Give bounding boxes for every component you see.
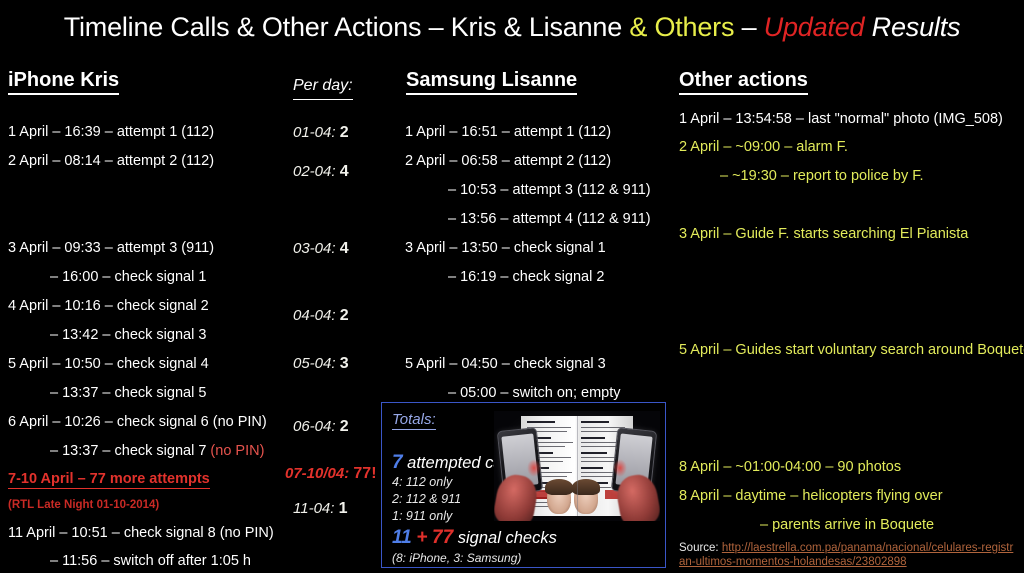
- totals-signal-label: signal checks: [458, 529, 557, 547]
- per-day-row: 06-04: 2: [293, 418, 349, 436]
- totals-signal-plus: +: [416, 527, 427, 548]
- samsung-entry: – 16:19 – check signal 2: [448, 268, 604, 286]
- samsung-entry: 3 April – 13:50 – check signal 1: [405, 239, 606, 257]
- per-day-row: 01-04: 2: [293, 124, 349, 142]
- source-url-link[interactable]: http://laestrella.com.pa/panama/nacional…: [679, 542, 1013, 568]
- per-day-row-highlight: 07-10/04: 77!: [285, 465, 377, 483]
- iphone-entry-more-attempts: 7-10 April – 77 more attempts: [8, 470, 210, 489]
- page-title: Timeline Calls & Other Actions – Kris & …: [0, 10, 1024, 44]
- other-action-entry: 3 April – Guide F. starts searching El P…: [679, 225, 968, 243]
- other-action-entry: – parents arrive in Boquete: [760, 516, 934, 534]
- samsung-entry: – 13:56 – attempt 4 (112 & 911): [448, 210, 651, 228]
- per-day-value: 4: [340, 163, 349, 180]
- per-day-value: 2: [340, 307, 349, 324]
- iphone-entry: – 16:00 – check signal 1: [50, 268, 206, 286]
- column-header-per-day: Per day:: [293, 74, 353, 100]
- per-day-label: 05-04:: [293, 355, 336, 372]
- column-header-other-actions: Other actions: [679, 68, 808, 95]
- iphone-entry: 11 April – 10:51 – check signal 8 (no PI…: [8, 524, 274, 542]
- iphone-entry-source-note: (RTL Late Night 01-10-2014): [8, 496, 159, 514]
- per-day-label: 07-10/04:: [285, 465, 349, 482]
- iphone-entry: 1 April – 16:39 – attempt 1 (112): [8, 123, 214, 141]
- per-day-row: 03-04: 4: [293, 240, 349, 258]
- per-day-label: 01-04:: [293, 124, 336, 141]
- totals-signal-number-1: 11: [392, 527, 412, 548]
- two-girls-photo: [547, 480, 603, 514]
- per-day-value: 3: [340, 355, 349, 372]
- other-action-entry: – ~19:30 – report to police by F.: [720, 167, 924, 185]
- samsung-entry: 2 April – 06:58 – attempt 2 (112): [405, 152, 611, 170]
- iphone-entry: 2 April – 08:14 – attempt 2 (112): [8, 152, 214, 170]
- source-label: Source:: [679, 542, 719, 554]
- per-day-label: 06-04:: [293, 418, 336, 435]
- totals-panel: Totals: 7 attempted calls 4: 112 only 2:…: [381, 402, 666, 568]
- per-day-value: 2: [340, 124, 349, 141]
- source-citation: Source: http://laestrella.com.pa/panama/…: [679, 541, 1015, 569]
- iphone-entry: 5 April – 10:50 – check signal 4: [8, 355, 209, 373]
- per-day-label: 03-04:: [293, 240, 336, 257]
- two-phones-call-log-photo: [494, 411, 660, 521]
- samsung-entry: 1 April – 16:51 – attempt 1 (112): [405, 123, 611, 141]
- iphone-entry-no-pin: – 13:37 – check signal 7 (no PIN): [50, 442, 264, 460]
- other-action-entry: 8 April – ~01:00-04:00 – 90 photos: [679, 458, 901, 476]
- per-day-label: 11-04:: [293, 500, 334, 517]
- iphone-entry: – 13:42 – check signal 3: [50, 326, 206, 344]
- per-day-value: 2: [340, 418, 349, 435]
- iphone-entry: 6 April – 10:26 – check signal 6 (no PIN…: [8, 413, 267, 431]
- other-action-entry: 8 April – daytime – helicopters flying o…: [679, 487, 943, 505]
- samsung-entry: – 05:00 – switch on; empty: [448, 384, 621, 402]
- totals-breakdown-item: 2: 112 & 911: [392, 492, 461, 506]
- totals-attempted-number: 7: [392, 452, 403, 473]
- samsung-entry: – 10:53 – attempt 3 (112 & 911): [448, 181, 651, 199]
- column-header-iphone-kris: iPhone Kris: [8, 68, 119, 95]
- totals-breakdown-item: 1: 911 only: [392, 509, 452, 523]
- totals-footnote: (8: iPhone, 3: Samsung): [392, 551, 521, 565]
- iphone-entry: – 11:56 – switch off after 1:05 h: [50, 552, 251, 570]
- iphone-entry-text: – 13:37 – check signal 7: [50, 443, 210, 459]
- other-action-entry: 2 April – ~09:00 – alarm F.: [679, 138, 848, 156]
- samsung-entry: 5 April – 04:50 – check signal 3: [405, 355, 606, 373]
- iphone-entry: – 13:37 – check signal 5: [50, 384, 206, 402]
- totals-signal-number-2: 77: [432, 527, 453, 548]
- per-day-label: 02-04:: [293, 163, 336, 180]
- title-part-results: Results: [864, 12, 960, 42]
- per-day-value: 1: [339, 500, 348, 517]
- title-part-1: Timeline Calls & Other Actions – Kris & …: [64, 12, 630, 42]
- title-part-updated: Updated: [764, 12, 865, 42]
- iphone-entry: 3 April – 09:33 – attempt 3 (911): [8, 239, 214, 257]
- per-day-row: 05-04: 3: [293, 355, 349, 373]
- per-day-value: 4: [340, 240, 349, 257]
- per-day-row: 11-04: 1: [293, 500, 348, 518]
- totals-breakdown-item: 4: 112 only: [392, 475, 452, 489]
- other-action-entry: 1 April – 13:54:58 – last "normal" photo…: [679, 110, 1003, 128]
- iphone-entry: 4 April – 10:16 – check signal 2: [8, 297, 209, 315]
- slide-canvas: Timeline Calls & Other Actions – Kris & …: [0, 0, 1024, 573]
- totals-title: Totals:: [392, 411, 436, 430]
- title-part-others: & Others: [629, 12, 734, 42]
- per-day-row: 02-04: 4: [293, 163, 349, 181]
- other-action-entry: 5 April – Guides start voluntary search …: [679, 341, 1024, 359]
- column-header-samsung-lisanne: Samsung Lisanne: [406, 68, 577, 95]
- per-day-value: 77!: [353, 465, 376, 482]
- title-part-dash: –: [734, 12, 763, 42]
- totals-signal-checks: 11 + 77 signal checks: [392, 527, 557, 549]
- no-pin-note: (no PIN): [210, 443, 264, 459]
- per-day-label: 04-04:: [293, 307, 336, 324]
- per-day-row: 04-04: 2: [293, 307, 349, 325]
